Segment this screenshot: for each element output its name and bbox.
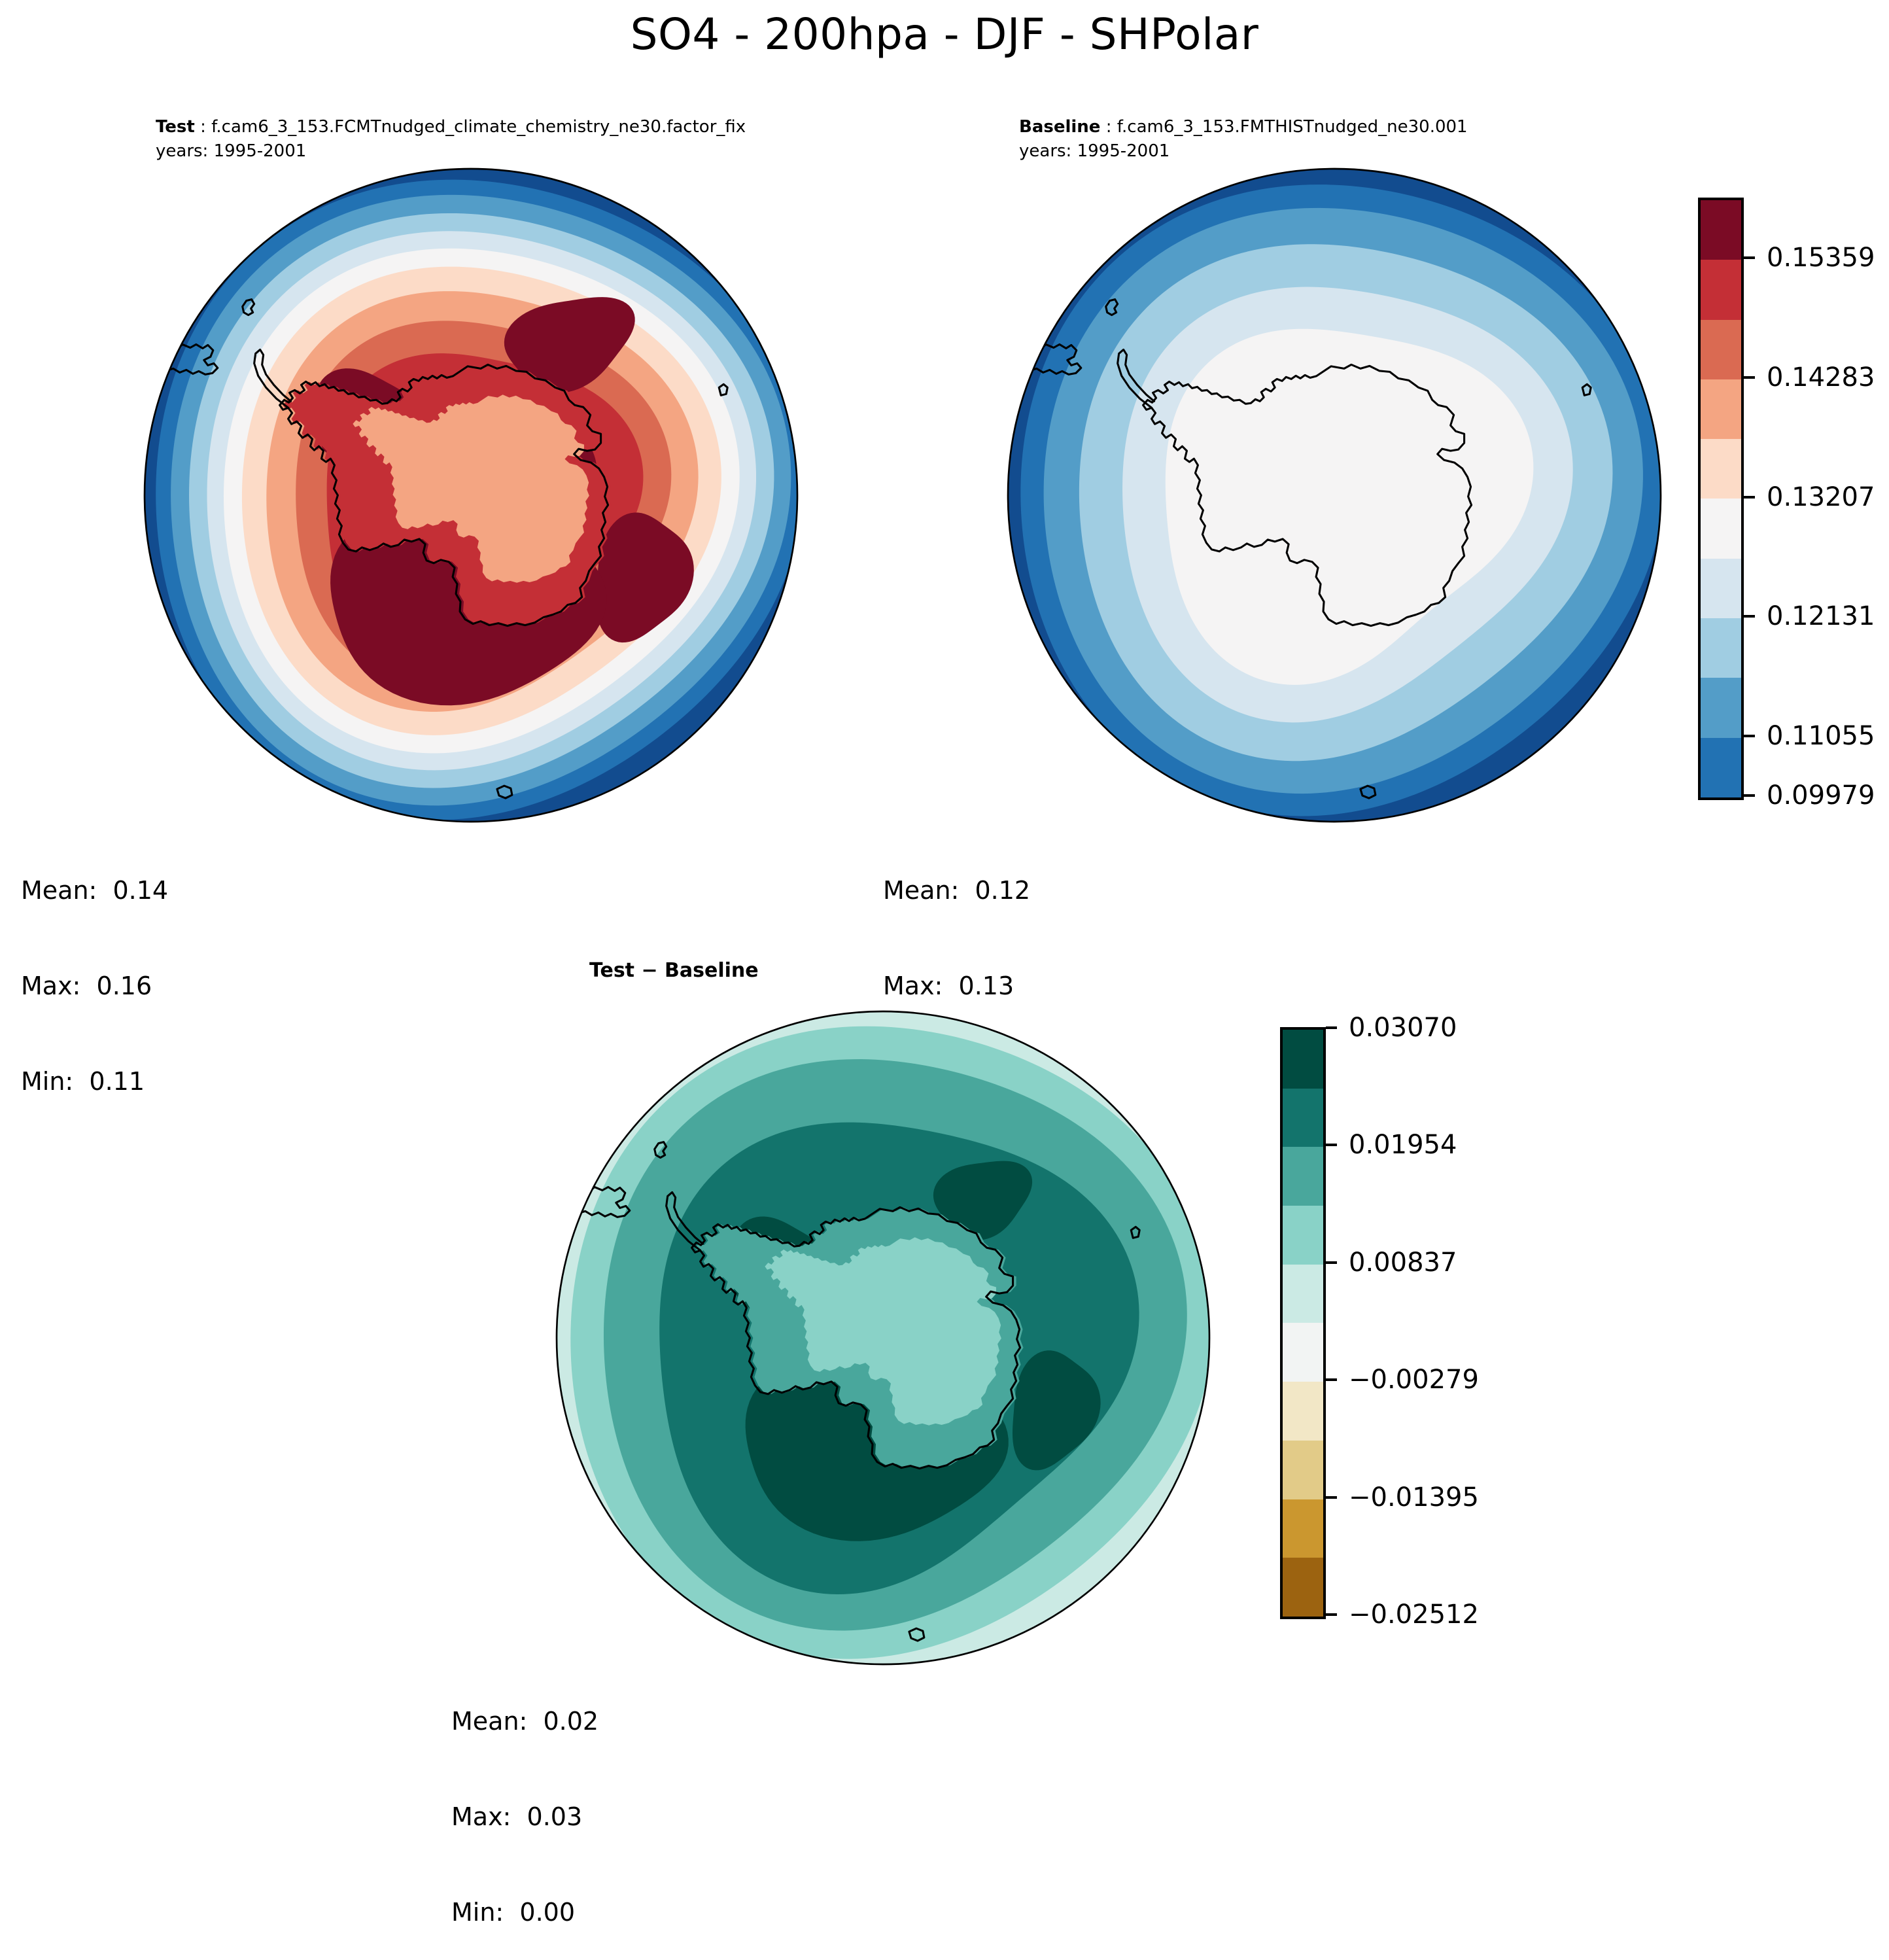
difference-stat-mean: Mean: 0.02 bbox=[451, 1706, 598, 1738]
colorbar-band bbox=[1701, 559, 1741, 618]
colorbar-band bbox=[1701, 618, 1741, 678]
test-header-sep: : bbox=[195, 117, 211, 137]
test-map-field bbox=[145, 169, 801, 822]
page-title: SO4 - 200hpa - DJF - SHPolar bbox=[0, 9, 1889, 60]
colorbar-tick-label: 0.13207 bbox=[1767, 482, 1875, 512]
difference-map-svg bbox=[553, 1007, 1213, 1668]
colorbar-tick: 0.00837 bbox=[1326, 1248, 1457, 1278]
colorbar-tick-label: 0.12131 bbox=[1767, 601, 1875, 631]
colorbar-tick-label: 0.09979 bbox=[1767, 780, 1875, 811]
colorbar-band bbox=[1283, 1206, 1323, 1265]
colorbar-tick: 0.15359 bbox=[1744, 243, 1875, 273]
colorbar-band bbox=[1283, 1499, 1323, 1558]
test-panel-header: Test : f.cam6_3_153.FCMTnudged_climate_c… bbox=[156, 115, 746, 164]
colorbar-gradient bbox=[1698, 198, 1744, 800]
difference-stats: Mean: 0.02 Max: 0.03 Min: 0.00 bbox=[451, 1642, 598, 1960]
colorbar-tick-mark bbox=[1326, 1261, 1337, 1264]
colorbar-tick-label: 0.03070 bbox=[1349, 1013, 1457, 1043]
colorbar-band bbox=[1701, 439, 1741, 499]
colorbar-tick-group: 0.030700.019540.00837−0.00279−0.01395−0.… bbox=[1326, 1027, 1587, 1614]
colorbar-band bbox=[1283, 1441, 1323, 1499]
test-map-svg bbox=[141, 165, 801, 826]
colorbar-tick-mark bbox=[1326, 1144, 1337, 1146]
colorbar-tick-mark bbox=[1744, 615, 1755, 618]
colorbar-tick-group: 0.153590.142830.132070.121310.110550.099… bbox=[1744, 198, 1889, 795]
colorbar-tick-mark bbox=[1326, 1378, 1337, 1381]
colorbar-tick: −0.01395 bbox=[1326, 1482, 1479, 1513]
colorbar-band bbox=[1283, 1089, 1323, 1147]
colorbar-tick: −0.02512 bbox=[1326, 1600, 1479, 1630]
baseline-header-sep: : bbox=[1100, 117, 1117, 137]
test-map-panel[interactable] bbox=[141, 165, 801, 826]
colorbar-tick-label: 0.15359 bbox=[1767, 243, 1875, 273]
colorbar-tick-label: 0.01954 bbox=[1349, 1130, 1457, 1160]
test-header-value: f.cam6_3_153.FCMTnudged_climate_chemistr… bbox=[211, 117, 746, 137]
colorbar-tick-mark bbox=[1744, 794, 1755, 797]
colorbar-tick: 0.14283 bbox=[1744, 362, 1875, 393]
colorbar-tick-label: 0.11055 bbox=[1767, 721, 1875, 751]
difference-stat-max: Max: 0.03 bbox=[451, 1801, 598, 1833]
colorbar-tick-mark bbox=[1744, 376, 1755, 379]
colorbar-band bbox=[1701, 379, 1741, 439]
colorbar-tick: 0.09979 bbox=[1744, 780, 1875, 811]
baseline-header-years: years: 1995-2001 bbox=[1019, 139, 1468, 164]
baseline-stat-max: Max: 0.13 bbox=[883, 970, 1030, 1002]
difference-map-panel[interactable] bbox=[553, 1007, 1213, 1668]
difference-panel-title: Test − Baseline bbox=[589, 959, 759, 982]
colorbar-band bbox=[1701, 320, 1741, 379]
colorbar-band bbox=[1701, 738, 1741, 797]
test-stats: Mean: 0.14 Max: 0.16 Min: 0.11 bbox=[21, 811, 168, 1129]
test-stat-mean: Mean: 0.14 bbox=[21, 875, 168, 907]
colorbar-tick-mark bbox=[1326, 1613, 1337, 1616]
colorbar-band bbox=[1701, 499, 1741, 558]
colorbar-tick: 0.03070 bbox=[1326, 1013, 1457, 1043]
colorbar-band bbox=[1283, 1147, 1323, 1206]
colorbar-tick: 0.12131 bbox=[1744, 601, 1875, 631]
colorbar-band bbox=[1283, 1030, 1323, 1089]
baseline-map-field bbox=[1008, 169, 1665, 822]
colorbar-band bbox=[1701, 200, 1741, 260]
difference-map-field bbox=[557, 1011, 1213, 1664]
colorbar-tick: 0.11055 bbox=[1744, 721, 1875, 751]
colorbar-tick-label: −0.01395 bbox=[1349, 1482, 1479, 1513]
colorbar-band bbox=[1701, 260, 1741, 319]
value-colorbar[interactable]: 0.153590.142830.132070.121310.110550.099… bbox=[1698, 198, 1739, 795]
colorbar-tick-mark bbox=[1744, 735, 1755, 737]
colorbar-tick-label: −0.00279 bbox=[1349, 1365, 1479, 1395]
colorbar-tick-mark bbox=[1326, 1496, 1337, 1499]
colorbar-tick: 0.13207 bbox=[1744, 482, 1875, 512]
colorbar-tick: −0.00279 bbox=[1326, 1365, 1479, 1395]
test-stat-min: Min: 0.11 bbox=[21, 1066, 168, 1098]
colorbar-band bbox=[1283, 1265, 1323, 1323]
colorbar-tick-mark bbox=[1326, 1026, 1337, 1029]
test-header-years: years: 1995-2001 bbox=[156, 139, 746, 164]
baseline-header-value: f.cam6_3_153.FMTHISTnudged_ne30.001 bbox=[1117, 117, 1468, 137]
colorbar-tick-mark bbox=[1744, 496, 1755, 499]
colorbar-tick: 0.01954 bbox=[1326, 1130, 1457, 1160]
test-stat-max: Max: 0.16 bbox=[21, 970, 168, 1002]
colorbar-tick-mark bbox=[1744, 256, 1755, 259]
colorbar-band bbox=[1283, 1323, 1323, 1382]
baseline-panel-header: Baseline : f.cam6_3_153.FMTHISTnudged_ne… bbox=[1019, 115, 1468, 164]
difference-stat-min: Min: 0.00 bbox=[451, 1897, 598, 1929]
baseline-map-panel[interactable] bbox=[1004, 165, 1665, 826]
baseline-stat-mean: Mean: 0.12 bbox=[883, 875, 1030, 907]
colorbar-tick-label: 0.14283 bbox=[1767, 362, 1875, 393]
baseline-map-svg bbox=[1004, 165, 1665, 826]
difference-colorbar[interactable]: 0.030700.019540.00837−0.00279−0.01395−0.… bbox=[1280, 1027, 1321, 1614]
colorbar-band bbox=[1283, 1382, 1323, 1441]
colorbar-tick-label: 0.00837 bbox=[1349, 1248, 1457, 1278]
baseline-header-key: Baseline bbox=[1019, 117, 1100, 137]
colorbar-band bbox=[1701, 678, 1741, 737]
colorbar-gradient bbox=[1280, 1027, 1326, 1619]
colorbar-band bbox=[1283, 1558, 1323, 1617]
colorbar-tick-label: −0.02512 bbox=[1349, 1600, 1479, 1630]
test-header-key: Test bbox=[156, 117, 195, 137]
